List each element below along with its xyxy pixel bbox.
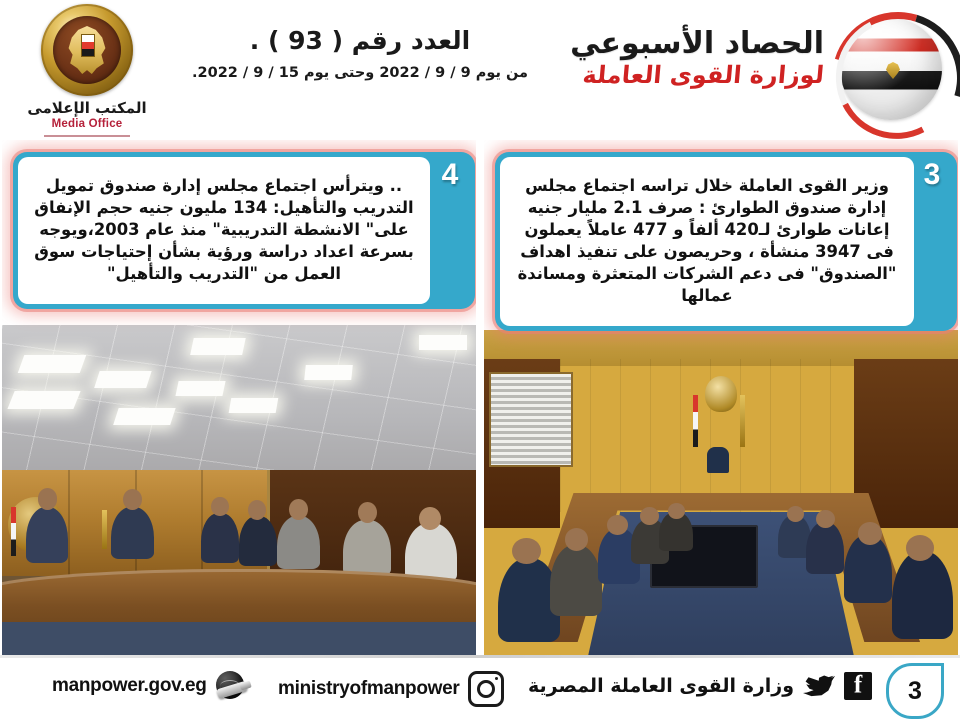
website-label: manpower.gov.eg	[52, 675, 207, 697]
news-caption-bubble-3: 3 وزير القوى العاملة خلال تراسه اجتماع م…	[495, 152, 957, 331]
facebook-icon	[844, 672, 872, 700]
page-number-badge: 3	[886, 663, 944, 719]
news-item-3: 3 وزير القوى العاملة خلال تراسه اجتماع م…	[484, 140, 958, 655]
twitter-icon	[803, 673, 835, 699]
media-office-label-en: Media Office	[12, 118, 162, 130]
news-caption-text-3: وزير القوى العاملة خلال تراسه اجتماع مجل…	[500, 157, 914, 326]
ministry-logo-block: المكتب الإعلامى Media Office	[12, 4, 162, 136]
ministry-of-manpower-seal-icon	[41, 4, 133, 96]
news-number-badge-3: 3	[915, 158, 949, 192]
instagram-link[interactable]: ministryofmanpower	[278, 671, 504, 707]
media-office-label-ar: المكتب الإعلامى	[12, 99, 162, 117]
instagram-icon	[468, 671, 504, 707]
issue-date-range: من يوم 9 / 9 / 2022 وحتى يوم 15 / 9 / 20…	[170, 65, 550, 81]
footer-divider	[0, 655, 960, 658]
website-link[interactable]: manpower.gov.eg	[52, 671, 250, 701]
page-footer: manpower.gov.eg ministryofmanpower وزارة…	[0, 655, 960, 720]
egypt-flag-globe-icon	[832, 12, 950, 130]
masthead-title: الحصاد الأسبوعي	[556, 28, 824, 60]
news-caption-bubble-4: 4 .. ويترأس اجتماع مجلس إدارة صندوق تموي…	[13, 152, 475, 309]
news-photo-4	[2, 325, 476, 655]
news-caption-text-4: .. ويترأس اجتماع مجلس إدارة صندوق تمويل …	[18, 157, 430, 304]
media-office-underline	[44, 135, 130, 137]
news-item-4: 4 .. ويترأس اجتماع مجلس إدارة صندوق تموي…	[2, 140, 476, 655]
social-handle-label: وزارة القوى العاملة المصرية	[528, 675, 794, 697]
news-photo-3	[484, 330, 958, 655]
issue-info: العدد رقم ( 93 ) . من يوم 9 / 9 / 2022 و…	[170, 26, 550, 81]
news-number-badge-4: 4	[433, 158, 467, 192]
instagram-label: ministryofmanpower	[278, 678, 459, 700]
globe-icon	[216, 671, 250, 701]
newsletter-page: المكتب الإعلامى Media Office العدد رقم (…	[0, 0, 960, 720]
issue-number: العدد رقم ( 93 ) .	[170, 26, 550, 55]
masthead-subtitle: لوزارة القوى العاملة	[555, 62, 825, 88]
facebook-twitter-link[interactable]: وزارة القوى العاملة المصرية	[528, 672, 872, 700]
news-panels: 4 .. ويترأس اجتماع مجلس إدارة صندوق تموي…	[0, 140, 960, 655]
masthead: الحصاد الأسبوعي لوزارة القوى العاملة	[550, 12, 950, 130]
page-header: المكتب الإعلامى Media Office العدد رقم (…	[0, 0, 960, 140]
